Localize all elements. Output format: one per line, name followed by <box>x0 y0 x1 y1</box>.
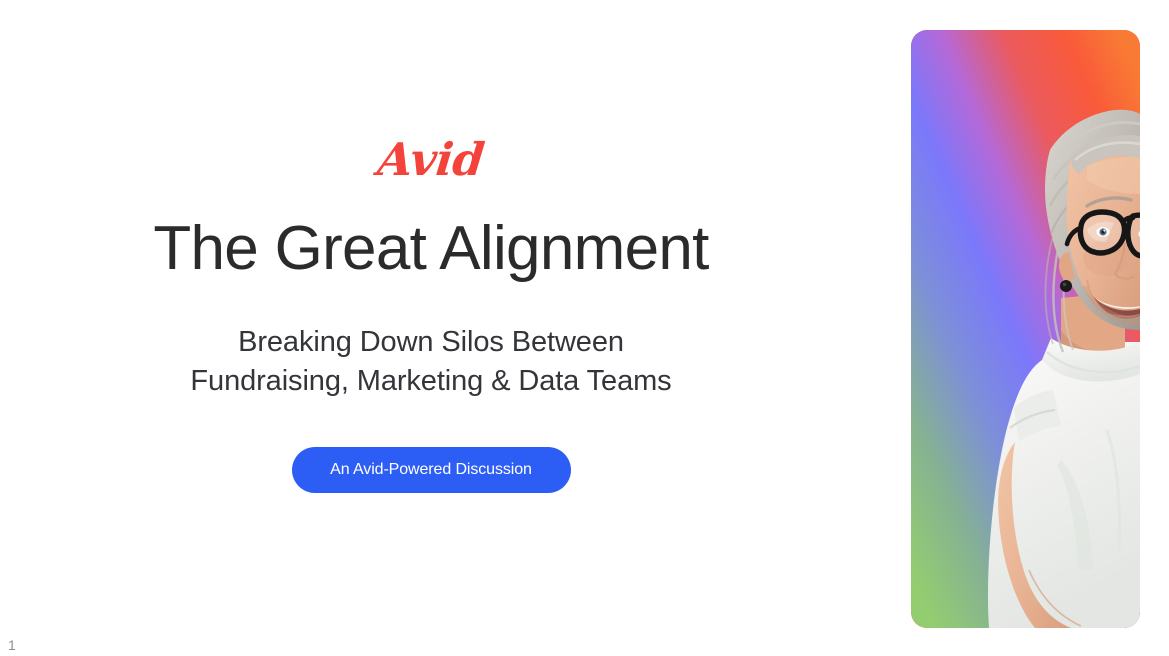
slide-headline: The Great Alignment <box>153 216 708 281</box>
speaker-portrait-illustration <box>911 30 1140 628</box>
subtitle-line-2: Fundraising, Marketing & Data Teams <box>190 362 671 401</box>
slide-subtitle: Breaking Down Silos Between Fundraising,… <box>190 323 671 400</box>
avid-logo-wordmark: Avid <box>376 137 487 182</box>
slide-content-column: Avid The Great Alignment Breaking Down S… <box>0 0 862 656</box>
slide-number: 1 <box>8 638 16 652</box>
discussion-cta-button[interactable]: An Avid-Powered Discussion <box>292 447 571 493</box>
subtitle-line-1: Breaking Down Silos Between <box>190 323 671 362</box>
speaker-photo-card <box>911 30 1140 628</box>
title-slide: Avid The Great Alignment Breaking Down S… <box>0 0 1169 656</box>
